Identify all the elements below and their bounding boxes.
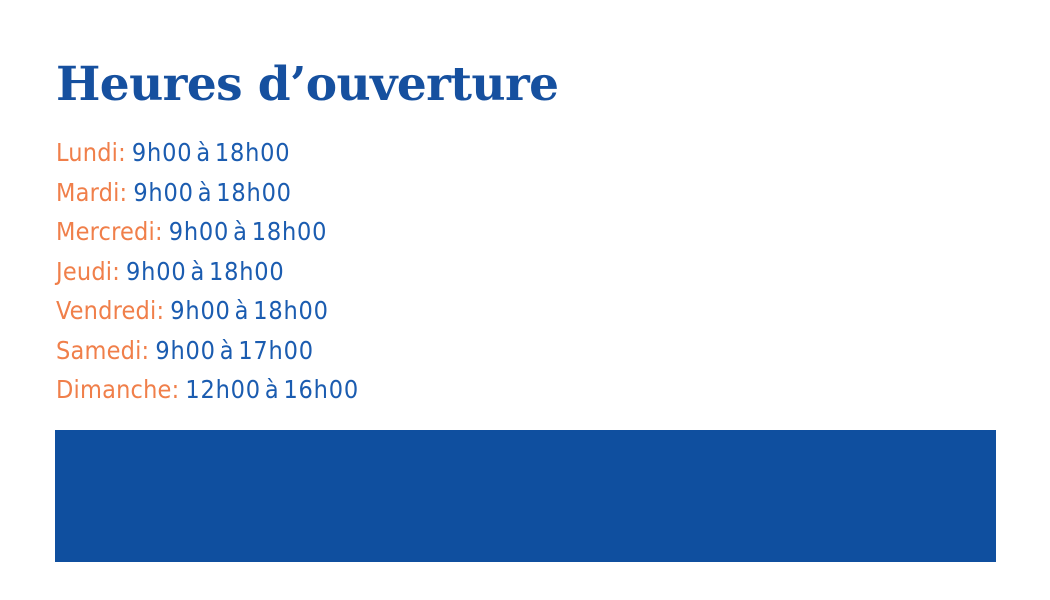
open-time: 9h00: [126, 257, 186, 286]
day-label: Dimanche:: [56, 375, 179, 404]
close-time: 18h00: [252, 217, 327, 246]
close-time: 16h00: [283, 375, 358, 404]
time-value: 9h00à18h00: [170, 296, 328, 325]
time-value: 9h00à18h00: [132, 138, 290, 167]
time-value: 9h00à18h00: [133, 178, 291, 207]
time-value: 12h00à16h00: [185, 375, 359, 404]
bottom-blue-banner: [55, 430, 996, 562]
list-item: Lundi:9h00à18h00: [56, 133, 616, 173]
day-label: Mardi:: [56, 178, 127, 207]
list-item: Mardi:9h00à18h00: [56, 173, 616, 213]
open-time: 9h00: [170, 296, 230, 325]
time-separator: à: [231, 296, 254, 325]
time-value: 9h00à17h00: [155, 336, 313, 365]
close-time: 18h00: [209, 257, 284, 286]
close-time: 17h00: [238, 336, 313, 365]
page-title: Heures d’ouverture: [56, 59, 558, 111]
day-label: Vendredi:: [56, 296, 164, 325]
slide-canvas: Heures d’ouverture Lundi:9h00à18h00 Mard…: [0, 0, 1050, 600]
list-item: Jeudi:9h00à18h00: [56, 252, 616, 292]
close-time: 18h00: [253, 296, 328, 325]
day-label: Lundi:: [56, 138, 126, 167]
close-time: 18h00: [216, 178, 291, 207]
open-time: 9h00: [169, 217, 229, 246]
opening-hours-list: Lundi:9h00à18h00 Mardi:9h00à18h00 Mercre…: [56, 133, 616, 410]
close-time: 18h00: [215, 138, 290, 167]
list-item: Dimanche:12h00à16h00: [56, 370, 616, 410]
time-separator: à: [194, 178, 217, 207]
open-time: 9h00: [155, 336, 215, 365]
time-separator: à: [229, 217, 252, 246]
open-time: 9h00: [132, 138, 192, 167]
time-value: 9h00à18h00: [126, 257, 284, 286]
open-time: 12h00: [185, 375, 260, 404]
time-separator: à: [186, 257, 209, 286]
list-item: Vendredi:9h00à18h00: [56, 291, 616, 331]
time-separator: à: [192, 138, 215, 167]
list-item: Mercredi:9h00à18h00: [56, 212, 616, 252]
day-label: Samedi:: [56, 336, 149, 365]
time-separator: à: [216, 336, 239, 365]
day-label: Mercredi:: [56, 217, 163, 246]
list-item: Samedi:9h00à17h00: [56, 331, 616, 371]
day-label: Jeudi:: [56, 257, 120, 286]
time-separator: à: [261, 375, 284, 404]
time-value: 9h00à18h00: [169, 217, 327, 246]
open-time: 9h00: [133, 178, 193, 207]
